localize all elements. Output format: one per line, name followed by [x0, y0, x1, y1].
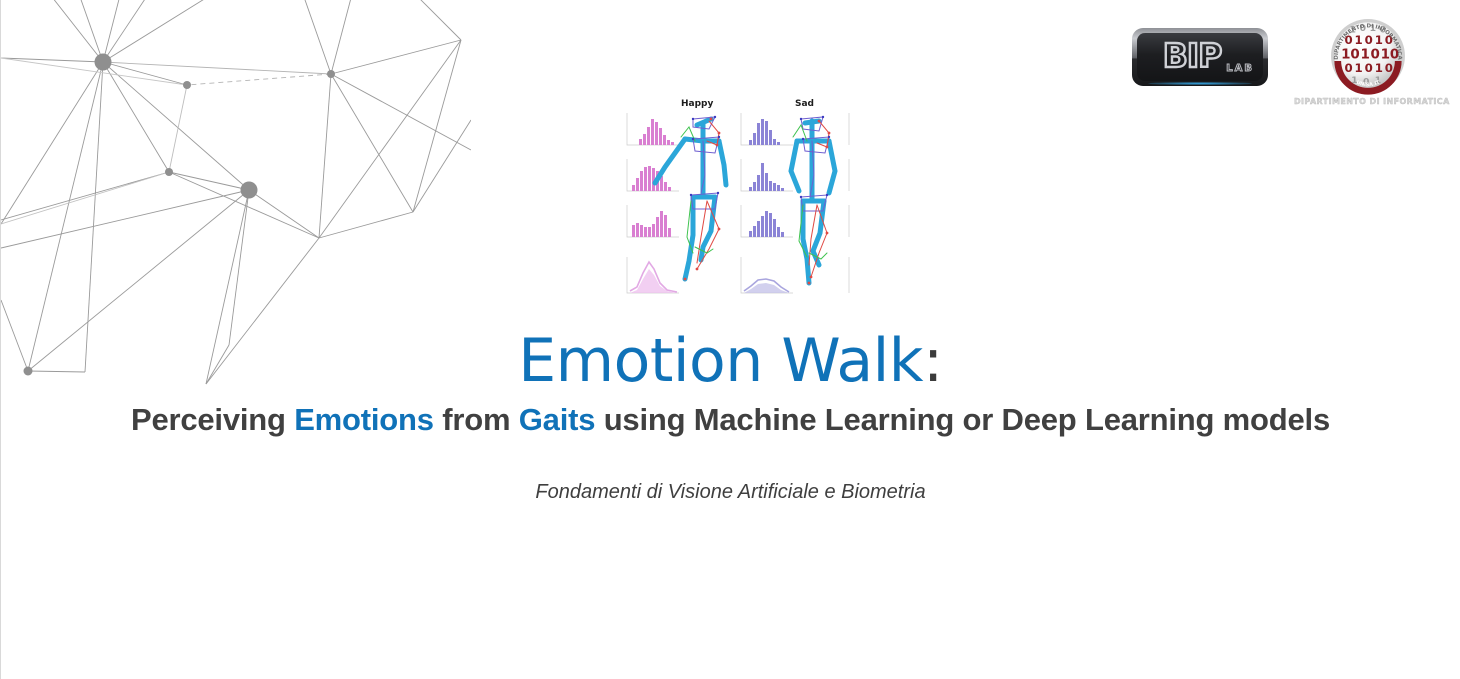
unisa-logo-caption: DIPARTIMENTO DI INFORMATICA [1294, 97, 1446, 106]
subtitle-segment-gaits: Gaits [519, 402, 596, 437]
network-node-small [183, 81, 191, 89]
gait-figure-svg [623, 97, 855, 312]
page-title-colon: : [923, 326, 943, 396]
page-title: Emotion Walk: [1, 330, 1460, 393]
gait-emotion-figure: Happy Sad [623, 97, 855, 312]
subtitle-segment-emotions: Emotions [294, 402, 434, 437]
happy-histogram-panels [627, 113, 679, 293]
subtitle-segment-tail: using Machine Learning or Deep Learning … [595, 402, 1330, 437]
network-node-large [241, 182, 258, 199]
svg-text:01 01: 01 01 0 [1344, 61, 1393, 75]
headline-block: Emotion Walk: Perceiving Emotions from G… [1, 330, 1460, 504]
network-node-small [327, 70, 335, 78]
bip-logo-lab-text: LAB [1226, 63, 1254, 74]
bip-logo-wordmark: BIP [1163, 39, 1222, 72]
sad-skeleton [791, 116, 835, 285]
figure-caption-sad: Sad [795, 99, 814, 109]
bip-logo-plate: BIP LAB [1132, 28, 1268, 86]
unisa-department-logo: 01 01 0 10 10 10 01 01 0 1 [1294, 14, 1446, 114]
figure-caption-happy: Happy [681, 99, 713, 109]
page-subtitle: Perceiving Emotions from Gaits using Mac… [111, 401, 1351, 439]
subtitle-segment-from: from [434, 402, 519, 437]
presentation-slide: BIP LAB [0, 0, 1460, 679]
logo-row: BIP LAB [1132, 14, 1446, 114]
course-name: Fondamenti di Visione Artificiale e Biom… [1, 481, 1460, 504]
network-node-small [165, 168, 173, 176]
unisa-seal-icon: 01 01 0 10 10 10 01 01 0 1 [1326, 14, 1410, 98]
network-node-large [95, 54, 112, 71]
bip-logo-glow [1148, 82, 1252, 85]
bip-lab-logo: BIP LAB [1132, 28, 1268, 86]
page-title-main: Emotion Walk [518, 326, 923, 396]
subtitle-segment-perceiving: Perceiving [131, 402, 294, 437]
